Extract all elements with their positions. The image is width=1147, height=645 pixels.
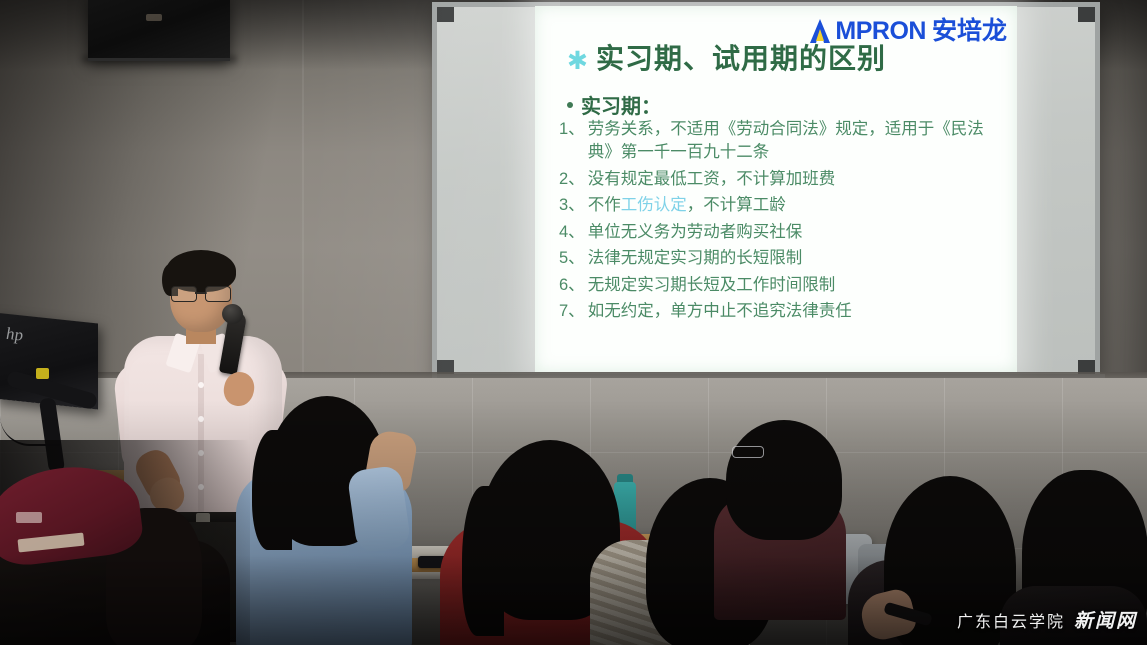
list-item: 1、 劳务关系，不适用《劳动合同法》规定，适用于《民法典》第一千一百九十二条: [559, 118, 999, 165]
list-item-highlight: 工伤认定: [621, 196, 687, 214]
star-icon: ✱: [567, 49, 588, 74]
list-item-text-pre: 不作: [588, 196, 621, 214]
list-item: 5、 法律无规定实习期的长短限制: [559, 247, 999, 270]
list-item-index: 2、: [559, 168, 585, 191]
list-item-text: 劳务关系，不适用《劳动合同法》规定，适用于《民法典》第一千一百九十二条: [588, 118, 999, 165]
slide-lead-text: 实习期：: [581, 90, 661, 119]
shirt-button: [198, 484, 204, 490]
list-item-index: 3、: [559, 194, 585, 217]
glasses-icon: [732, 446, 764, 458]
shirt-button: [198, 450, 204, 456]
list-item-text: 法律无规定实习期的长短限制: [588, 247, 999, 270]
slide-title: ✱ 实习期、试用期的区别: [567, 44, 886, 75]
list-item-index: 4、: [559, 221, 585, 244]
list-item-index: 6、: [559, 274, 585, 297]
list-item-text-post: ，不计算工龄: [687, 196, 786, 214]
a-mark-icon: [809, 18, 831, 44]
logo-chinese-name: 安培龙: [932, 19, 1007, 44]
list-item: 7、 如无约定，单方中止不追究法律责任: [559, 300, 999, 323]
list-item: 2、 没有规定最低工资，不计算加班费: [559, 168, 999, 191]
list-item-text: 无规定实习期长短及工作时间限制: [588, 274, 999, 297]
projected-slide: MPRON 安培龙 ✱ 实习期、试用期的区别 实习期： 1、 劳务关系，不适用《…: [535, 6, 1017, 372]
dot-icon: [567, 102, 573, 108]
classroom-photo-scene: MPRON 安培龙 ✱ 实习期、试用期的区别 实习期： 1、 劳务关系，不适用《…: [0, 0, 1147, 645]
list-item-index: 5、: [559, 247, 585, 270]
wall-speaker-box: [88, 0, 230, 61]
shirt-button: [198, 382, 204, 388]
whiteboard-corner: [437, 7, 454, 22]
hp-logo-icon: hp: [6, 324, 23, 346]
slide-numbered-list: 1、 劳务关系，不适用《劳动合同法》规定，适用于《民法典》第一千一百九十二条 2…: [559, 118, 999, 326]
list-item-text: 单位无义务为劳动者购买社保: [588, 221, 999, 244]
watermark-site-name: 新闻网: [1074, 606, 1137, 633]
student-arm: [347, 465, 412, 554]
watermark: 广东白云学院 新闻网: [957, 606, 1137, 633]
presenter-shirt-placket: [198, 354, 204, 520]
logo-wordmark: MPRON: [835, 19, 926, 44]
list-item-index: 1、: [559, 118, 585, 141]
ampron-logo: MPRON 安培龙: [809, 18, 1007, 44]
slide-title-text: 实习期、试用期的区别: [596, 44, 886, 75]
list-item: 6、 无规定实习期长短及工作时间限制: [559, 274, 999, 297]
watermark-school-name: 广东白云学院: [957, 608, 1065, 632]
slide-lead-bullet: 实习期：: [567, 90, 661, 119]
list-item-text: 不作工伤认定，不计算工龄: [588, 194, 999, 217]
cap-logo-icon: [16, 512, 42, 523]
list-item-index: 7、: [559, 300, 585, 323]
monitor-arm-badge-icon: [36, 368, 49, 379]
list-item-text: 没有规定最低工资，不计算加班费: [588, 168, 999, 191]
shirt-button: [198, 416, 204, 422]
list-item: 3、 不作工伤认定，不计算工龄: [559, 194, 999, 217]
indicator-led-icon: [146, 14, 162, 21]
glasses-icon: [170, 286, 232, 300]
whiteboard-corner: [1078, 7, 1095, 22]
list-item-text: 如无约定，单方中止不追究法律责任: [588, 300, 999, 323]
list-item: 4、 单位无义务为劳动者购买社保: [559, 221, 999, 244]
